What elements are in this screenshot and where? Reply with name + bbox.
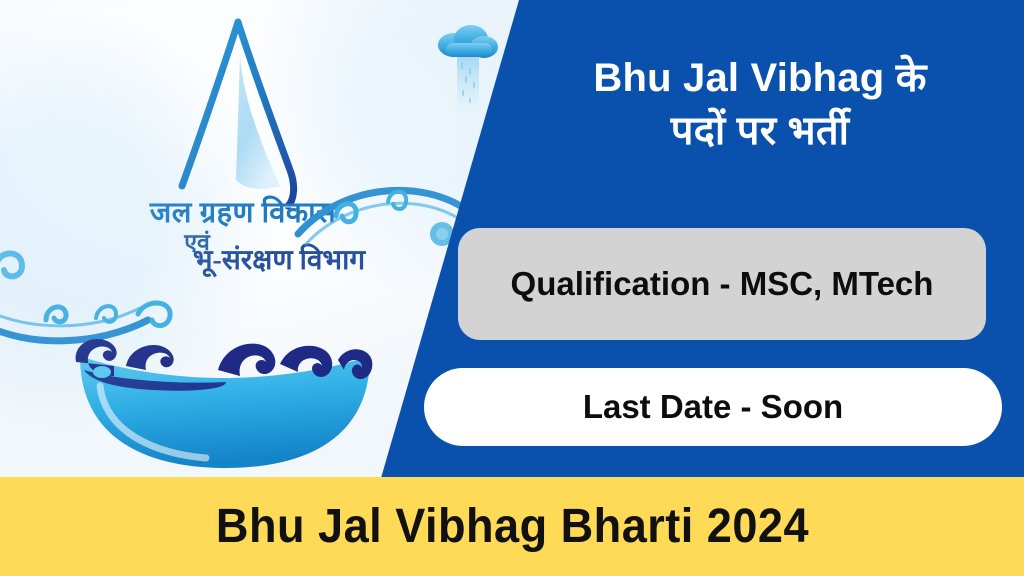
headline-line-2: पदों पर भर्ती (520, 105, 1000, 158)
recruitment-poster: जल ग्रहण विकास एवं भू-संरक्षण विभाग (0, 0, 1024, 576)
poster-headline: Bhu Jal Vibhag के पदों पर भर्ती (520, 52, 1000, 158)
qualification-badge: Qualification - MSC, MTech (458, 228, 986, 340)
headline-line-1: Bhu Jal Vibhag के (520, 52, 1000, 105)
last-date-badge: Last Date - Soon (424, 368, 1002, 446)
water-bowl-icon (66, 326, 386, 476)
footer-title: Bhu Jal Vibhag Bharti 2024 (215, 499, 808, 554)
footer-banner: Bhu Jal Vibhag Bharti 2024 (0, 477, 1024, 576)
